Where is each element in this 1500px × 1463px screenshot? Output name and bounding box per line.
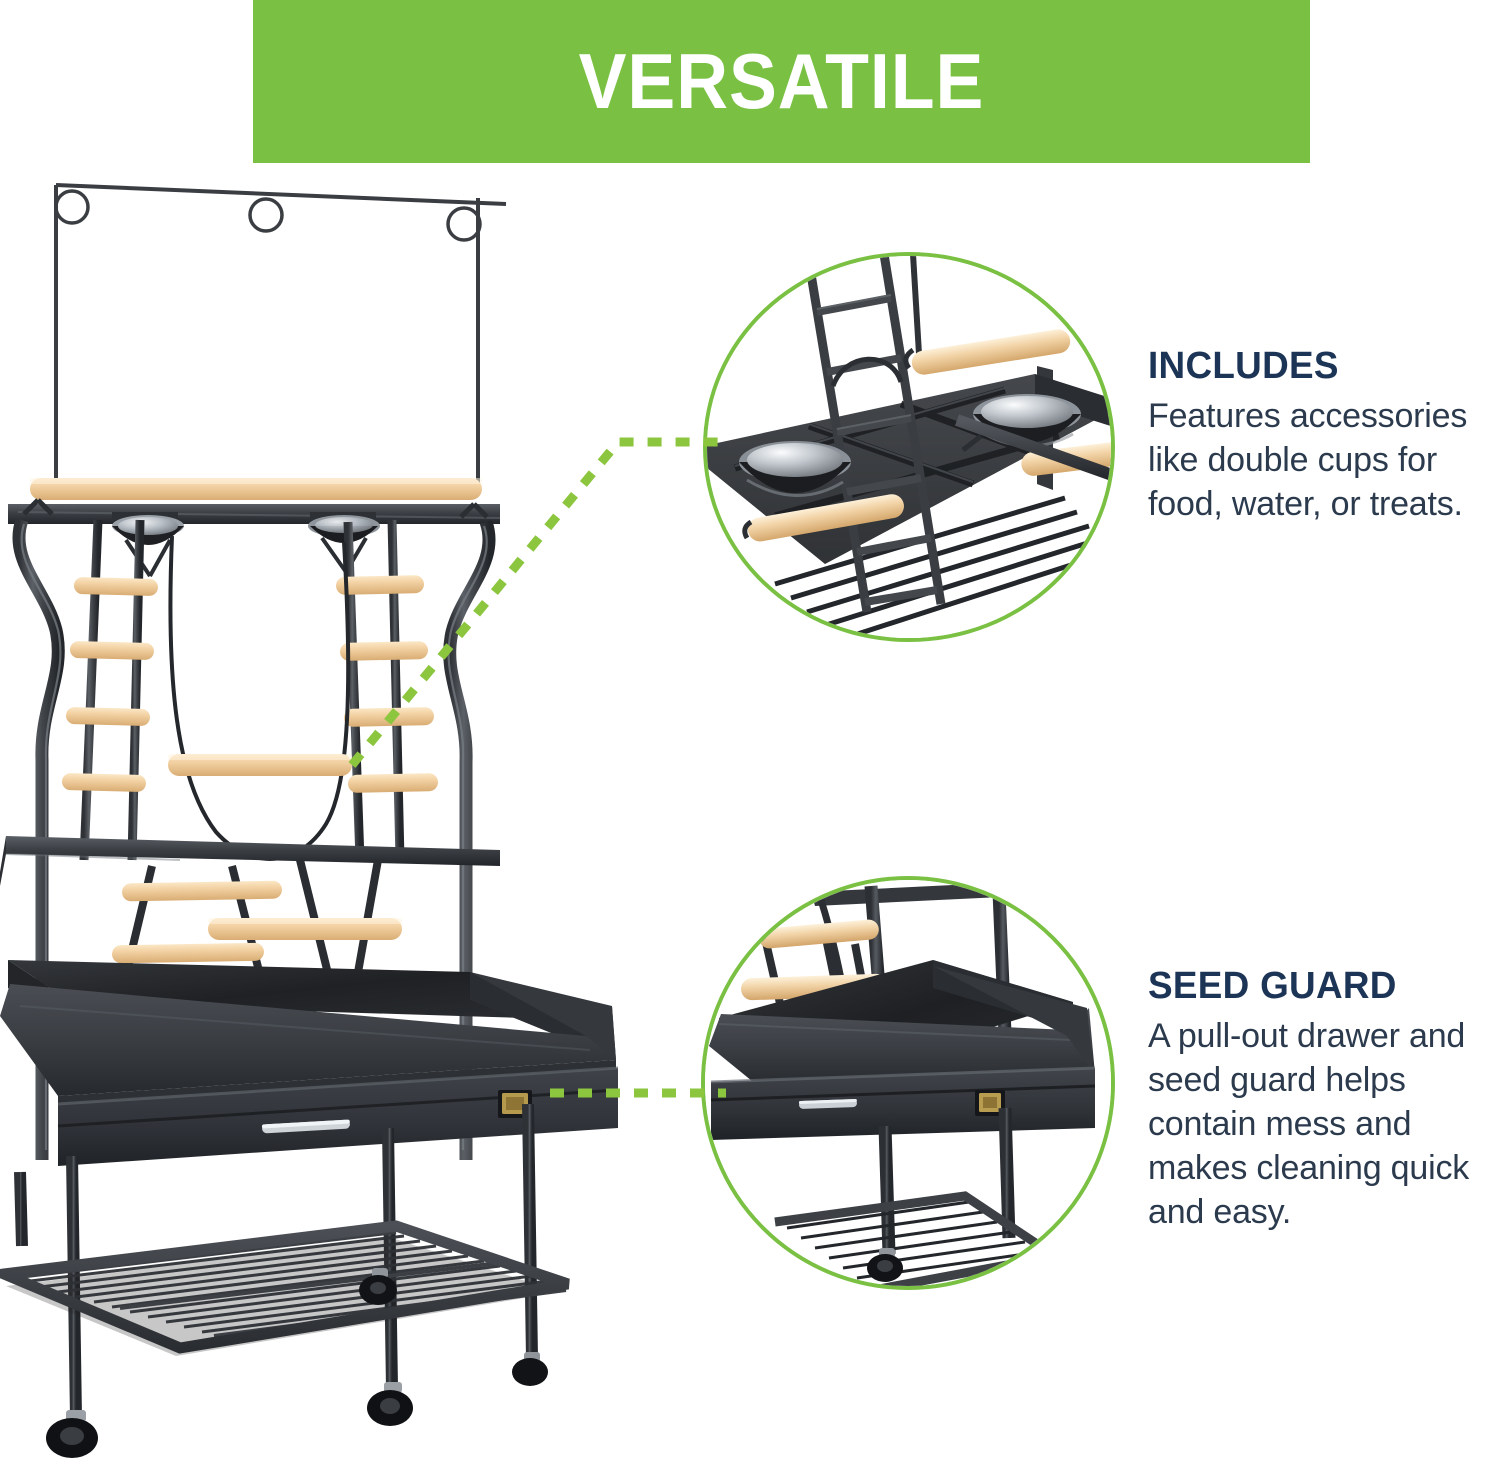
callout-includes-heading: INCLUDES [1148,345,1489,388]
detail-circle-includes-photo [705,254,1113,640]
detail-circle-seed-guard [701,876,1115,1290]
callout-includes-body: Features accessories like double cups fo… [1148,394,1500,526]
mid-platform [0,836,500,886]
banner-title: VERSATILE [579,36,985,127]
bottom-wire-shelf [4,1226,568,1356]
ladder-left [62,520,158,860]
caster [512,1352,548,1386]
product-illustration [0,160,680,1458]
drawer [711,1068,1095,1140]
detail-circle-includes [703,252,1115,642]
ladder-right [336,520,438,860]
callout-seed-guard: SEED GUARD A pull-out drawer and seed gu… [1148,965,1500,1234]
header-banner: VERSATILE [253,0,1310,163]
callout-includes: INCLUDES Features accessories like doubl… [1148,345,1500,526]
detail-circle-seed-guard-photo [703,878,1113,1288]
caster [367,1382,413,1426]
infographic-canvas: VERSATILE [0,0,1500,1458]
playtop-rail [8,500,500,524]
caster [46,1410,98,1458]
hanger-bar [56,185,506,493]
 [168,536,352,859]
callout-seed-guard-body: A pull-out drawer and seed guard helps c… [1148,1014,1500,1234]
top-wood-perch [30,478,482,500]
callout-seed-guard-heading: SEED GUARD [1148,965,1489,1008]
